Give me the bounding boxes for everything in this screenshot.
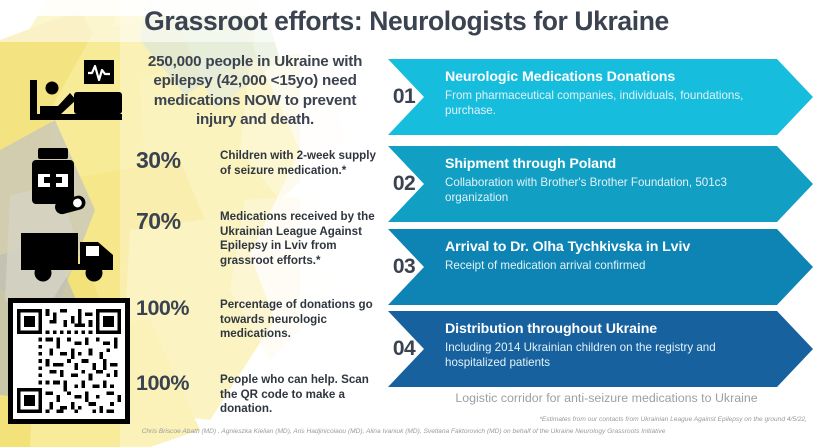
step-title: Shipment through Poland	[445, 156, 775, 173]
hospital-bed-icon	[28, 60, 124, 127]
process-step[interactable]: 01 Neurologic Medications Donations From…	[382, 59, 813, 135]
footnote-source: *Estimates from our contacts from Ukrain…	[0, 414, 807, 426]
stat-description: Medications received by the Ukrainian Le…	[220, 209, 380, 269]
stat-row: 100% Percentage of donations go towards …	[136, 297, 380, 342]
headline-statement: 250,000 people in Ukraine with epilepsy …	[136, 52, 374, 130]
page-title: Grassroot efforts: Neurologists for Ukra…	[144, 6, 669, 37]
stat-value: 100%	[136, 372, 220, 396]
corridor-caption: Logistic corridor for anti-seizure medic…	[400, 391, 813, 405]
step-number: 03	[382, 229, 426, 305]
stat-value: 70%	[136, 209, 220, 234]
step-number: 04	[382, 311, 426, 387]
process-step[interactable]: 03 Arrival to Dr. Olha Tychkivska in Lvi…	[382, 229, 813, 305]
stat-description: Percentage of donations go towards neuro…	[220, 297, 380, 342]
process-step[interactable]: 02 Shipment through Poland Collaboration…	[382, 146, 813, 222]
stat-description: People who can help. Scan the QR code to…	[220, 372, 380, 417]
step-description: Collaboration with Brother's Brother Fou…	[445, 176, 775, 206]
step-description: From pharmaceutical companies, individua…	[445, 89, 775, 119]
step-description: Including 2014 Ukrainian children on the…	[445, 341, 775, 371]
process-steps-column: 01 Neurologic Medications Donations From…	[382, 42, 813, 447]
stat-row: 30% Children with 2-week supply of seizu…	[136, 148, 380, 178]
stat-row: 70% Medications received by the Ukrainia…	[136, 209, 380, 269]
pill-bottle-icon	[30, 148, 92, 221]
step-description: Receipt of medication arrival confirmed	[445, 259, 775, 274]
footnote-authors: Chris Briscoe Abath (MD) , Agnieszka Kie…	[0, 426, 807, 438]
delivery-truck-icon	[20, 228, 120, 288]
stat-row: 100% People who can help. Scan the QR co…	[136, 372, 380, 417]
step-title: Neurologic Medications Donations	[445, 69, 775, 86]
stat-value: 100%	[136, 297, 220, 321]
stat-description: Children with 2-week supply of seizure m…	[220, 148, 380, 178]
step-number: 01	[382, 59, 426, 135]
step-number: 02	[382, 146, 426, 222]
footnotes: *Estimates from our contacts from Ukrain…	[0, 414, 813, 437]
process-step[interactable]: 04 Distribution throughout Ukraine Inclu…	[382, 311, 813, 387]
qr-code-pattern	[17, 307, 121, 415]
step-title: Distribution throughout Ukraine	[445, 321, 775, 338]
step-title: Arrival to Dr. Olha Tychkivska in Lviv	[445, 239, 775, 256]
donation-qr-code[interactable]	[8, 298, 130, 424]
page-header: Grassroot efforts: Neurologists for Ukra…	[0, 0, 813, 42]
stat-value: 30%	[136, 148, 220, 173]
